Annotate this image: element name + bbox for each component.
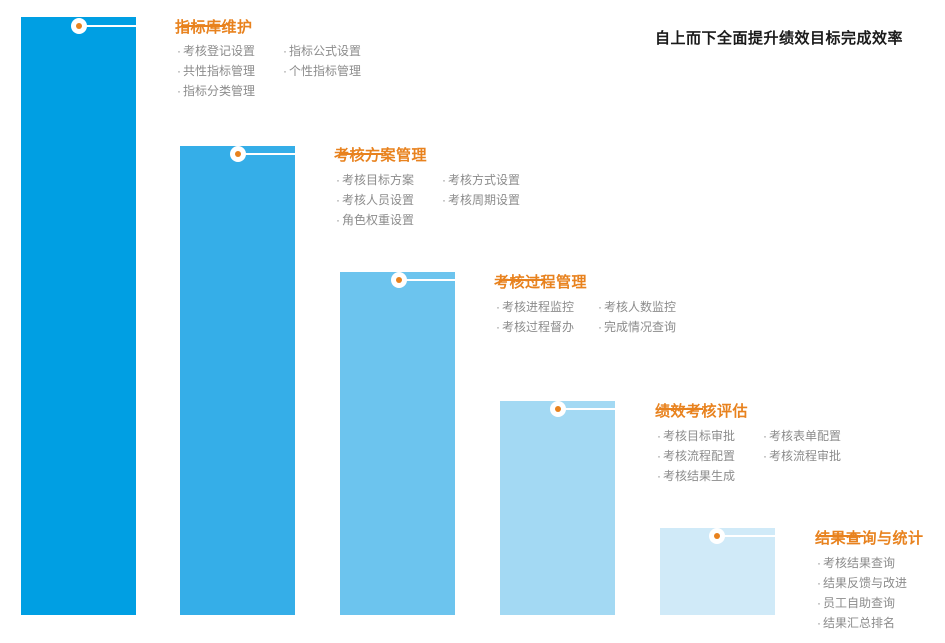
infographic-canvas: 自上而下全面提升绩效目标完成效率 指标库维护考核登记设置共性指标管理指标分类管理… xyxy=(0,0,945,643)
group-details-1: 考核登记设置共性指标管理指标分类管理指标公式设置个性指标管理 xyxy=(177,41,361,101)
connector-line-inner xyxy=(79,25,181,27)
group-title-3: 考核过程管理 xyxy=(494,271,587,292)
detail-item[interactable]: 考核过程督办 xyxy=(496,317,574,337)
funnel-bar-4[interactable] xyxy=(500,401,615,615)
detail-item[interactable]: 考核结果生成 xyxy=(657,466,735,486)
detail-item[interactable]: 完成情况查询 xyxy=(598,317,676,337)
detail-column: 考核目标审批考核流程配置考核结果生成 xyxy=(657,426,735,486)
connector-line-inner xyxy=(238,153,339,155)
group-details-3: 考核进程监控考核过程督办考核人数监控完成情况查询 xyxy=(496,297,676,337)
detail-column: 考核方式设置考核周期设置 xyxy=(442,170,520,230)
detail-item[interactable]: 考核目标方案 xyxy=(336,170,414,190)
detail-item[interactable]: 共性指标管理 xyxy=(177,61,255,81)
connector-line-inner xyxy=(399,279,499,281)
detail-item[interactable]: 考核人员设置 xyxy=(336,190,414,210)
detail-item[interactable]: 结果汇总排名 xyxy=(817,613,907,633)
detail-item[interactable]: 指标分类管理 xyxy=(177,81,255,101)
group-title-5: 结果查询与统计 xyxy=(815,527,924,548)
detail-item[interactable]: 考核流程配置 xyxy=(657,446,735,466)
detail-column: 考核登记设置共性指标管理指标分类管理 xyxy=(177,41,255,101)
connector-dot[interactable] xyxy=(550,401,566,417)
group-details-2: 考核目标方案考核人员设置角色权重设置考核方式设置考核周期设置 xyxy=(336,170,520,230)
detail-item[interactable]: 考核目标审批 xyxy=(657,426,735,446)
detail-item[interactable]: 考核表单配置 xyxy=(763,426,841,446)
detail-item[interactable]: 考核周期设置 xyxy=(442,190,520,210)
group-title-2: 考核方案管理 xyxy=(334,144,427,165)
group-title-4: 绩效考核评估 xyxy=(655,400,748,421)
detail-item[interactable]: 考核登记设置 xyxy=(177,41,255,61)
detail-item[interactable]: 考核方式设置 xyxy=(442,170,520,190)
funnel-bar-1[interactable] xyxy=(21,17,136,615)
detail-item[interactable]: 指标公式设置 xyxy=(283,41,361,61)
connector-dot[interactable] xyxy=(709,528,725,544)
detail-item[interactable]: 考核进程监控 xyxy=(496,297,574,317)
detail-column: 考核人数监控完成情况查询 xyxy=(598,297,676,337)
connector-dot[interactable] xyxy=(391,272,407,288)
detail-column: 指标公式设置个性指标管理 xyxy=(283,41,361,101)
detail-item[interactable]: 考核人数监控 xyxy=(598,297,676,317)
detail-column: 考核目标方案考核人员设置角色权重设置 xyxy=(336,170,414,230)
detail-column: 考核结果查询结果反馈与改进员工自助查询结果汇总排名 xyxy=(817,553,907,633)
group-details-4: 考核目标审批考核流程配置考核结果生成考核表单配置考核流程审批 xyxy=(657,426,841,486)
detail-item[interactable]: 角色权重设置 xyxy=(336,210,414,230)
funnel-bar-2[interactable] xyxy=(180,146,295,615)
detail-item[interactable]: 个性指标管理 xyxy=(283,61,361,81)
funnel-bar-3[interactable] xyxy=(340,272,455,615)
detail-column: 考核表单配置考核流程审批 xyxy=(763,426,841,486)
detail-item[interactable]: 考核结果查询 xyxy=(817,553,907,573)
connector-line-inner xyxy=(717,535,819,537)
detail-item[interactable]: 员工自助查询 xyxy=(817,593,907,613)
headline-text: 自上而下全面提升绩效目标完成效率 xyxy=(655,27,903,48)
connector-dot[interactable] xyxy=(230,146,246,162)
connector-dot[interactable] xyxy=(71,18,87,34)
detail-item[interactable]: 结果反馈与改进 xyxy=(817,573,907,593)
detail-item[interactable]: 考核流程审批 xyxy=(763,446,841,466)
connector-line-inner xyxy=(558,408,659,410)
detail-column: 考核进程监控考核过程督办 xyxy=(496,297,574,337)
group-title-1: 指标库维护 xyxy=(175,16,253,37)
group-details-5: 考核结果查询结果反馈与改进员工自助查询结果汇总排名 xyxy=(817,553,907,633)
